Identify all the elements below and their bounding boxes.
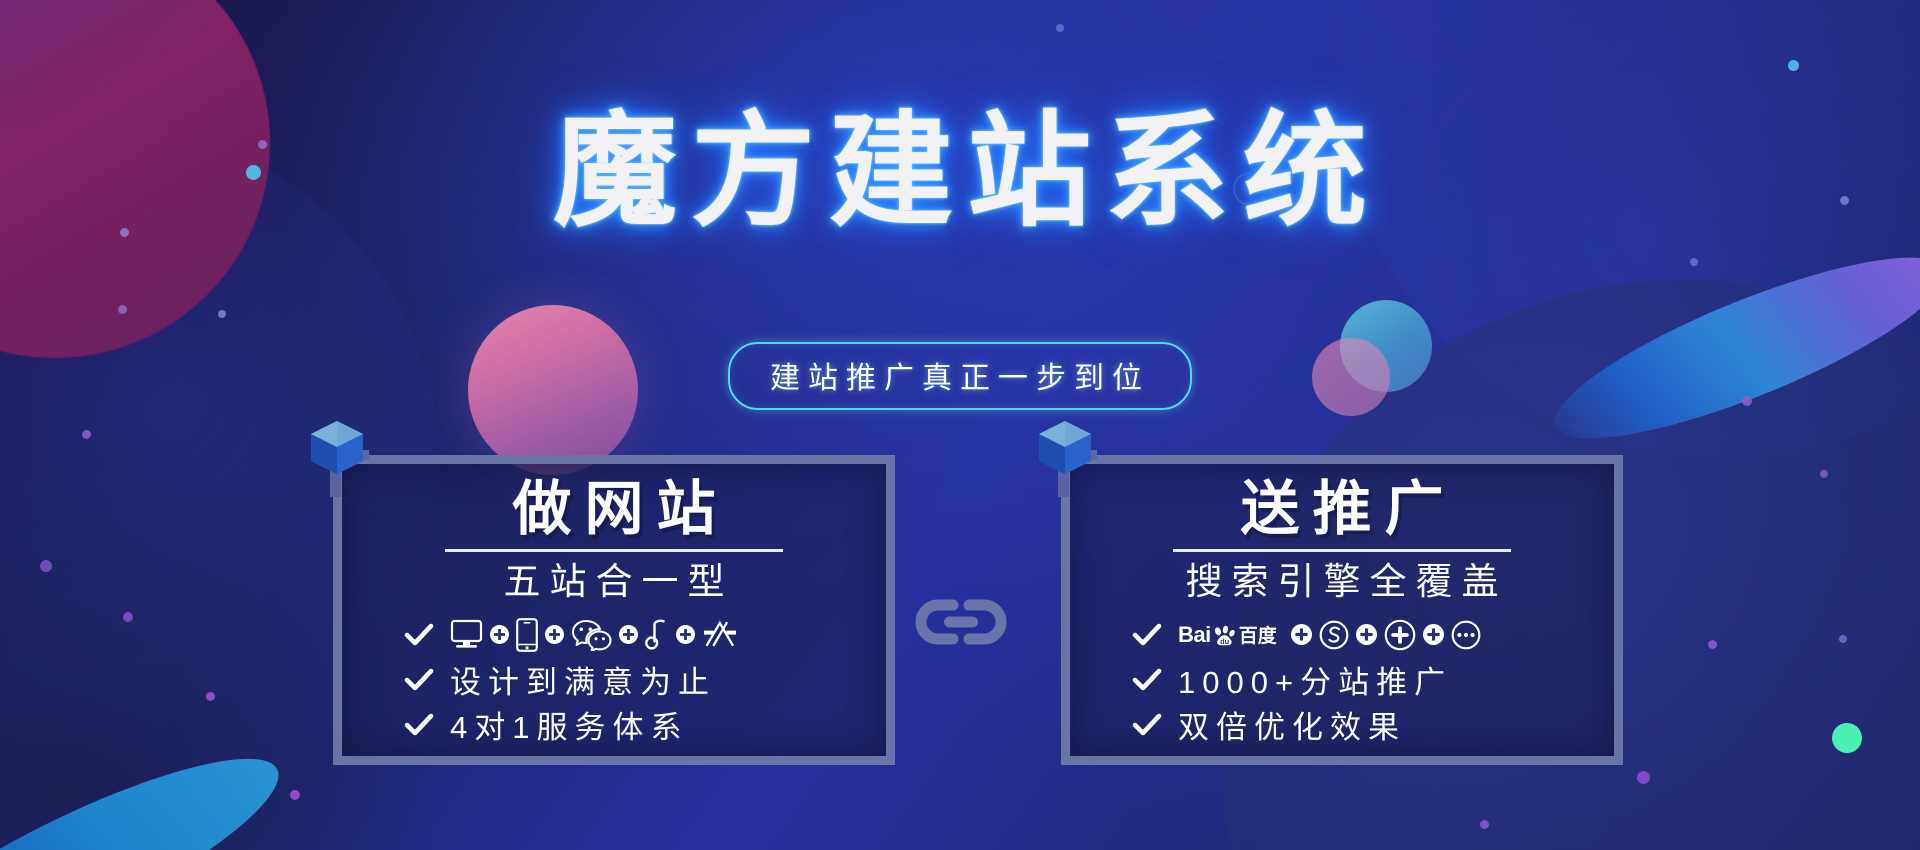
chain-link-icon [913,592,1009,652]
plus-icon [1356,624,1377,645]
heading-underline [1173,549,1511,552]
svg-text:du: du [1220,637,1230,646]
cube-gem-icon [1028,417,1102,497]
star-dot [1839,635,1847,643]
star-dot [82,430,91,439]
list-item [404,612,886,657]
star-dot [1056,24,1064,32]
check-icon [404,620,434,650]
comet-streak-right [1537,225,1920,471]
star-dot [1637,771,1650,784]
wechat-icon [571,619,612,651]
panel-heading: 送推广 [1227,478,1456,540]
teal-orb [1340,300,1432,392]
feature-list: Bai du 百度 [1070,612,1614,747]
star-dot [1690,258,1698,266]
platform-icon-row [450,618,738,652]
pink-orb [1312,338,1390,416]
list-item: 1000+分站推广 [1132,657,1614,702]
page-title: 魔方建站系统 [539,106,1381,240]
pink-planet-sphere [468,305,638,475]
360-search-icon [1384,619,1416,651]
search-engine-icon-row: Bai du 百度 [1178,619,1481,651]
list-item-label: 设计到满意为止 [450,657,716,702]
panel-heading: 做网站 [499,478,728,540]
star-dot [1788,60,1799,71]
baidu-logo: Bai du 百度 [1178,621,1277,648]
star-dot [218,310,226,318]
comet-streak-left [0,723,300,850]
plus-icon [490,625,509,644]
star-dot [1820,470,1828,478]
plus-icon [1423,624,1444,645]
check-icon [404,665,434,695]
list-item-label: 4对1服务体系 [450,702,688,747]
subtitle-pill: 建站推广真正一步到位 [728,342,1192,410]
star-dot [118,305,127,314]
star-dot [1480,820,1489,829]
check-icon [1132,665,1162,695]
list-item-label: 双倍优化效果 [1178,702,1406,747]
star-dot [1708,640,1717,649]
star-dot [40,560,52,572]
mobile-phone-icon [516,618,538,652]
heading-underline [445,549,783,552]
plus-icon [619,625,638,644]
plus-icon [545,625,564,644]
panel-subheading: 五站合一型 [495,559,734,604]
more-ellipsis-icon [1451,620,1481,650]
star-dot [1742,396,1752,406]
star-dot [290,790,300,800]
check-icon [1132,620,1162,650]
baidu-logo-latin: Bai [1178,622,1211,648]
list-item: 双倍优化效果 [1132,702,1614,747]
panel-free-promotion: 送推广 搜索引擎全覆盖 Bai [1061,455,1623,765]
cube-gem-icon [300,417,374,497]
list-item-label: 1000+分站推广 [1178,657,1452,702]
feature-list: 设计到满意为止 4对1服务体系 [342,612,886,747]
check-icon [1132,710,1162,740]
sogou-icon [1319,620,1349,650]
check-icon [404,710,434,740]
title-block: 魔方建站系统 [0,106,1920,240]
star-dot [206,692,215,701]
panel-subheading: 搜索引擎全覆盖 [1177,559,1508,604]
baidu-paw-icon: du [1213,625,1236,648]
plus-icon [676,625,695,644]
baidu-logo-chinese: 百度 [1239,621,1277,648]
qq-music-icon [645,618,669,651]
desktop-pc-icon [450,619,483,650]
list-item: 4对1服务体系 [404,702,886,747]
list-item: 设计到满意为止 [404,657,886,702]
mint-dot [1832,723,1862,753]
promo-banner: 魔方建站系统 建站推广真正一步到位 做网站 五站合一型 [0,0,1920,850]
app-store-icon [702,618,738,651]
list-item: Bai du 百度 [1132,612,1614,657]
plus-icon [1291,624,1312,645]
star-dot [123,612,133,622]
subtitle-text: 建站推广真正一步到位 [770,362,1150,395]
panel-make-website: 做网站 五站合一型 [333,455,895,765]
